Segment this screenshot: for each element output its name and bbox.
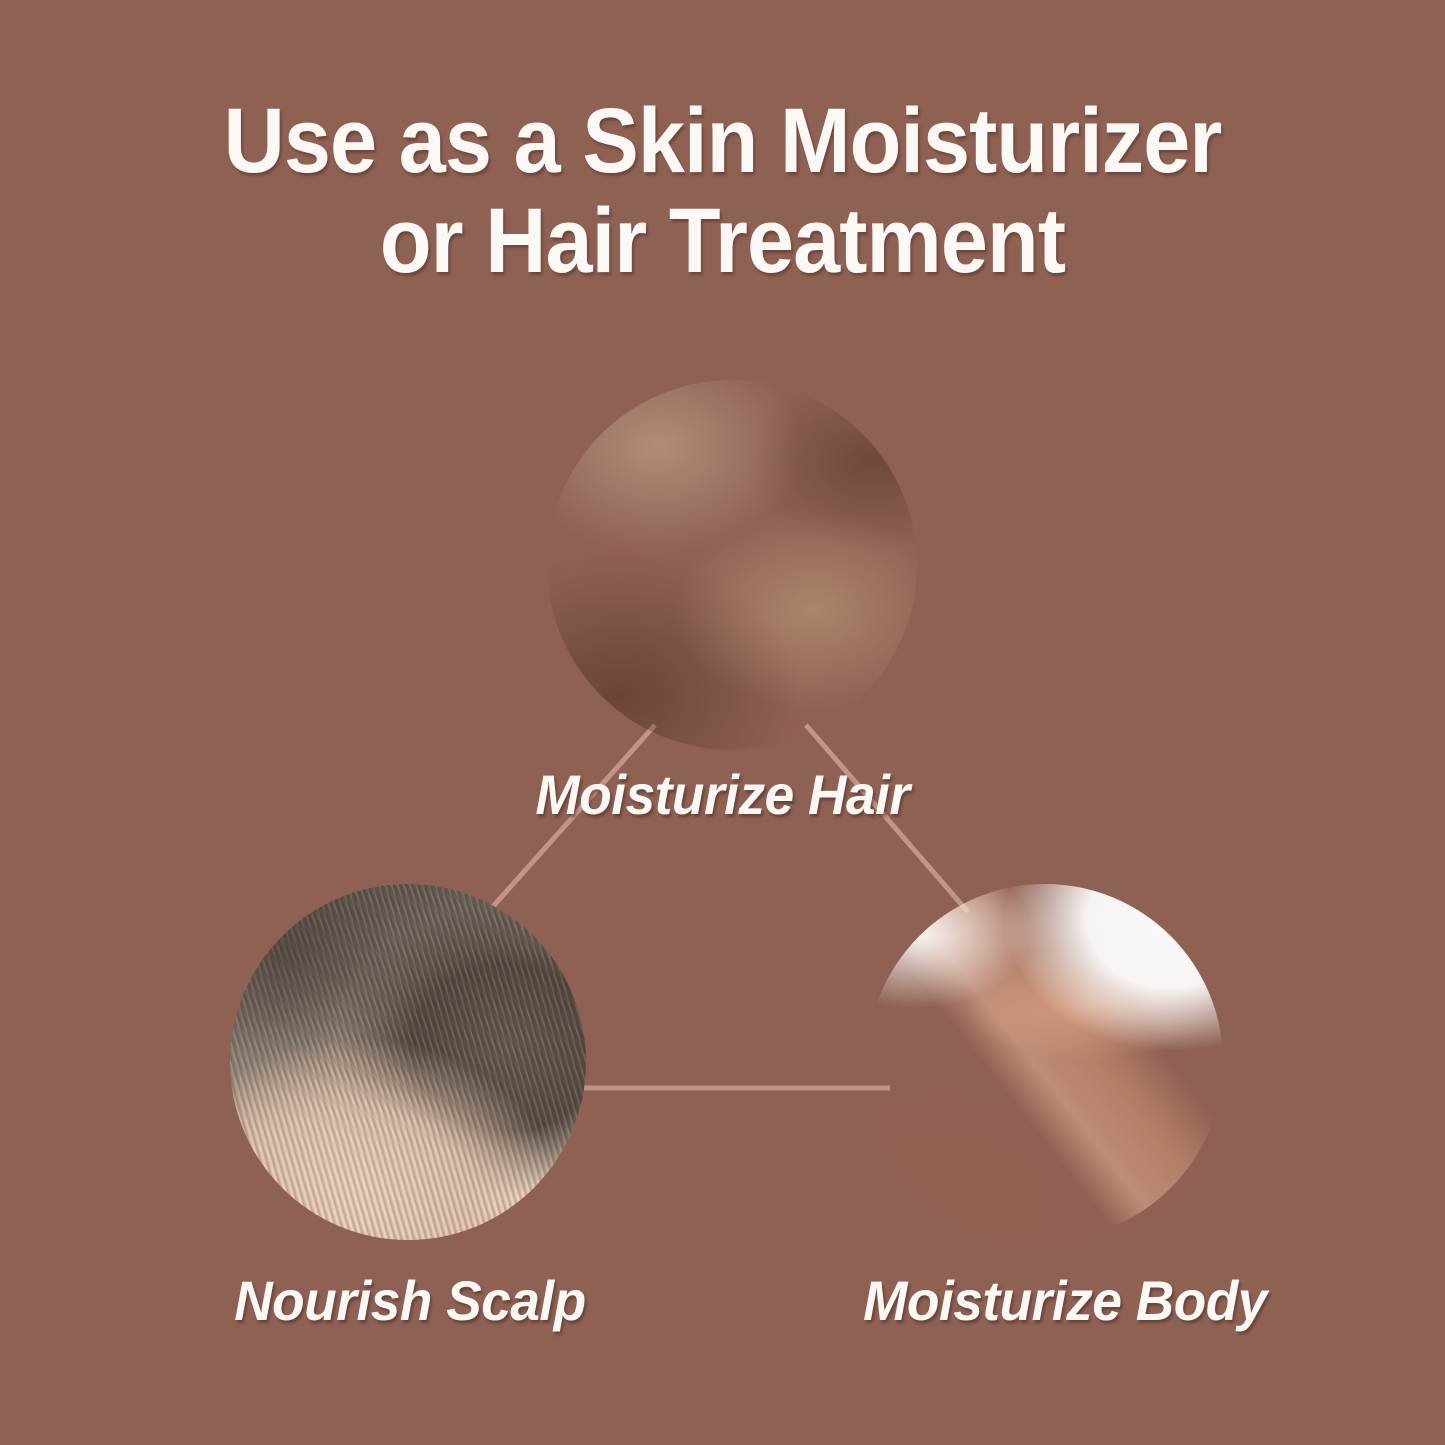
infographic-poster: Use as a Skin Moisturizer or Hair Treatm… <box>0 0 1445 1445</box>
title-line-2: or Hair Treatment <box>58 196 1387 286</box>
node-image-hair <box>547 380 917 750</box>
node-label-body: Moisturize Body <box>790 1268 1341 1333</box>
scalp-photo <box>230 884 586 1240</box>
hair-photo <box>547 380 917 750</box>
title-line-1: Use as a Skin Moisturizer <box>58 96 1387 186</box>
node-label-hair: Moisturize Hair <box>36 762 1409 827</box>
body-photo <box>867 884 1223 1240</box>
page-title: Use as a Skin Moisturizer or Hair Treatm… <box>0 96 1445 286</box>
node-label-scalp: Nourish Scalp <box>135 1268 686 1333</box>
node-image-body <box>867 884 1223 1240</box>
node-image-scalp <box>230 884 586 1240</box>
